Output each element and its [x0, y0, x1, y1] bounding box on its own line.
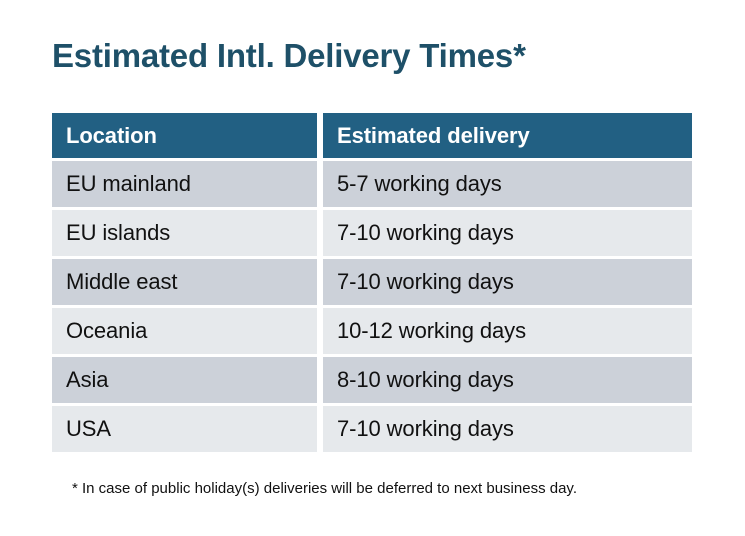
table-row: Asia 8-10 working days — [52, 357, 692, 403]
cell-delivery: 7-10 working days — [323, 406, 692, 452]
cell-delivery: 5-7 working days — [323, 161, 692, 207]
cell-location: Oceania — [52, 308, 317, 354]
footnote-text: * In case of public holiday(s) deliverie… — [72, 480, 577, 497]
location-value: Asia — [66, 367, 108, 393]
delivery-value: 5-7 working days — [337, 171, 502, 197]
cell-location: EU islands — [52, 210, 317, 256]
column-header-location-label: Location — [66, 123, 157, 149]
cell-delivery: 7-10 working days — [323, 210, 692, 256]
column-header-delivery-label: Estimated delivery — [337, 123, 530, 149]
delivery-times-table: Location Estimated delivery EU mainland … — [52, 113, 692, 452]
location-value: EU islands — [66, 220, 170, 246]
cell-location: Middle east — [52, 259, 317, 305]
cell-delivery: 7-10 working days — [323, 259, 692, 305]
delivery-value: 7-10 working days — [337, 416, 514, 442]
location-value: EU mainland — [66, 171, 191, 197]
delivery-value: 7-10 working days — [337, 220, 514, 246]
table-row: Oceania 10-12 working days — [52, 308, 692, 354]
table-row: USA 7-10 working days — [52, 406, 692, 452]
table-header-row: Location Estimated delivery — [52, 113, 692, 158]
table-row: EU islands 7-10 working days — [52, 210, 692, 256]
cell-location: USA — [52, 406, 317, 452]
cell-location: Asia — [52, 357, 317, 403]
cell-delivery: 8-10 working days — [323, 357, 692, 403]
delivery-value: 7-10 working days — [337, 269, 514, 295]
location-value: USA — [66, 416, 111, 442]
delivery-times-page: Estimated Intl. Delivery Times* Location… — [0, 0, 745, 536]
cell-delivery: 10-12 working days — [323, 308, 692, 354]
delivery-value: 8-10 working days — [337, 367, 514, 393]
table-row: EU mainland 5-7 working days — [52, 161, 692, 207]
delivery-value: 10-12 working days — [337, 318, 526, 344]
location-value: Middle east — [66, 269, 177, 295]
header-cell-location: Location — [52, 113, 317, 158]
cell-location: EU mainland — [52, 161, 317, 207]
header-cell-delivery: Estimated delivery — [323, 113, 692, 158]
table-row: Middle east 7-10 working days — [52, 259, 692, 305]
location-value: Oceania — [66, 318, 147, 344]
page-title: Estimated Intl. Delivery Times* — [52, 36, 526, 76]
